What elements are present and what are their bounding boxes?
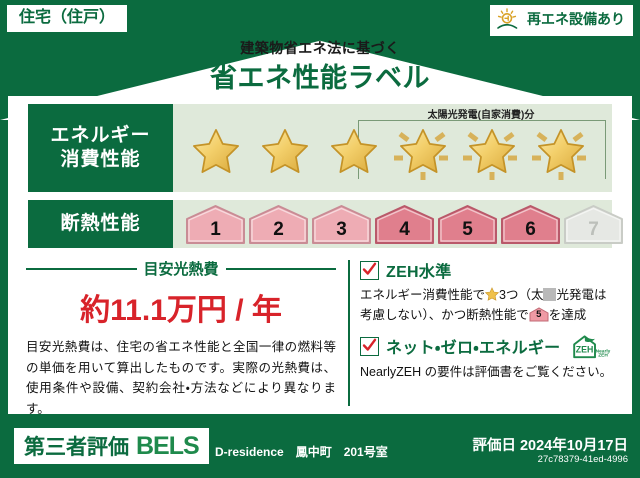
energy-performance-label: 住宅（住戸） 再エネ設備あり 建築物省エネ法に基づく 省エネ性能ラベル bbox=[0, 0, 640, 478]
insulation-level-value: 1 bbox=[210, 219, 221, 241]
zeh-standard-heading: ZEH水準 bbox=[360, 258, 618, 282]
zeh-desc-part4: を達成 bbox=[549, 308, 587, 322]
utility-cost-column: 目安光熱費 約11.1万円 / 年 目安光熱費は、住宅の省エネ性能と全国一律の燃… bbox=[26, 256, 336, 420]
bels-logo: 第三者評価 BELS bbox=[14, 428, 209, 464]
bels-logo-jp: 第三者評価 bbox=[24, 431, 129, 461]
utility-cost-heading-label: 目安光熱費 bbox=[144, 258, 219, 279]
insulation-level-badge: 2 bbox=[248, 204, 309, 245]
insulation-level-inline-badge: 5 bbox=[529, 307, 549, 322]
star-filled bbox=[183, 120, 249, 184]
star-icon bbox=[190, 126, 242, 176]
insulation-performance-panel: 1234567 bbox=[173, 200, 612, 248]
net-zero-energy-block: ネット・ゼロ・エネルギー ZEH Nearly ZEH NearlyZEH の要… bbox=[360, 333, 618, 382]
insulation-level-badge: 1 bbox=[185, 204, 246, 245]
redacted-character bbox=[543, 288, 556, 301]
energy-label-line2: 消費性能 bbox=[60, 148, 140, 172]
star-filled bbox=[252, 120, 318, 184]
insulation-level-inline-value: 5 bbox=[529, 307, 549, 322]
zeh-desc-part1: エネルギー消費性能で bbox=[360, 288, 485, 302]
check-icon bbox=[362, 338, 377, 353]
label-subtitle: 建築物省エネ法に基づく bbox=[0, 38, 640, 58]
star-filled bbox=[321, 120, 387, 184]
energy-label-line1: エネルギー bbox=[50, 124, 150, 148]
insulation-label: 断熱性能 bbox=[60, 212, 140, 236]
column-divider bbox=[348, 260, 350, 406]
renewable-equipment-tag-label: 再エネ設備あり bbox=[527, 12, 625, 27]
insulation-performance-label-box: 断熱性能 bbox=[28, 200, 173, 248]
star-solar bbox=[528, 120, 594, 184]
insulation-level-badge: 7 bbox=[563, 204, 624, 245]
net-zero-energy-checkbox[interactable] bbox=[360, 337, 379, 356]
star-icon bbox=[485, 287, 499, 301]
renewable-equipment-tag: 再エネ設備あり bbox=[489, 4, 634, 37]
zeh-standard-block: ZEH水準 エネルギー消費性能で3つ（太光発電は考慮しない）、かつ断熱性能で5を… bbox=[360, 258, 618, 325]
house-type-tag: 住宅（住戸） bbox=[6, 4, 128, 33]
sun-icon bbox=[496, 8, 522, 32]
insulation-level-value: 4 bbox=[399, 219, 410, 241]
evaluation-date: 評価日 2024年10月17日 bbox=[472, 434, 628, 455]
insulation-level-value: 6 bbox=[525, 219, 536, 241]
zeh-standard-checkbox[interactable] bbox=[360, 261, 379, 280]
details-columns: 目安光熱費 約11.1万円 / 年 目安光熱費は、住宅の省エネ性能と全国一律の燃… bbox=[8, 256, 632, 414]
star-solar bbox=[390, 120, 456, 184]
utility-cost-value: 約11.1万円 / 年 bbox=[26, 285, 336, 329]
solar-generation-note: 太陽光発電(自家消費)分 bbox=[356, 106, 606, 121]
insulation-performance-row: 断熱性能 1234567 bbox=[28, 200, 612, 248]
insulation-level-value: 3 bbox=[336, 219, 347, 241]
star-icon bbox=[328, 126, 380, 176]
star-icon bbox=[535, 126, 587, 176]
heading-rule-left bbox=[26, 268, 137, 270]
zeh-standard-title: ZEH水準 bbox=[386, 258, 452, 282]
insulation-level-value: 2 bbox=[273, 219, 284, 241]
net-zero-energy-title: ネット・ゼロ・エネルギー bbox=[386, 334, 560, 358]
insulation-level-value: 5 bbox=[462, 219, 473, 241]
energy-performance-stars-panel: 太陽光発電(自家消費)分 bbox=[173, 104, 612, 192]
evaluation-id: 27c78379-41ed-4996 bbox=[538, 454, 628, 465]
label-body-card: エネルギー 消費性能 太陽光発電(自家消費)分 断熱性能 1234567 bbox=[8, 96, 632, 414]
insulation-level-value: 7 bbox=[588, 219, 599, 241]
energy-performance-row: エネルギー 消費性能 太陽光発電(自家消費)分 bbox=[28, 104, 612, 192]
zeh-desc-part2: 3つ（太 bbox=[499, 288, 543, 302]
utility-cost-heading: 目安光熱費 bbox=[26, 258, 336, 279]
insulation-level-badge: 4 bbox=[374, 204, 435, 245]
star-icon bbox=[466, 126, 518, 176]
star-icon bbox=[259, 126, 311, 176]
footer-band: 第三者評価 BELS D-residence 鳳中町 201号室 評価日 202… bbox=[0, 420, 640, 478]
star-icon bbox=[397, 126, 449, 176]
utility-cost-note: 目安光熱費は、住宅の省エネ性能と全国一律の燃料等の単価を用いて算出したものです。… bbox=[26, 337, 336, 420]
zeh-standard-description: エネルギー消費性能で3つ（太光発電は考慮しない）、かつ断熱性能で5を達成 bbox=[360, 285, 618, 325]
insulation-level-badge: 3 bbox=[311, 204, 372, 245]
bels-logo-en: BELS bbox=[136, 432, 199, 461]
net-zero-energy-description: NearlyZEH の要件は評価書をご覧ください。 bbox=[360, 362, 618, 382]
star-solar bbox=[459, 120, 525, 184]
insulation-level-badge: 5 bbox=[437, 204, 498, 245]
zeh-column: ZEH水準 エネルギー消費性能で3つ（太光発電は考慮しない）、かつ断熱性能で5を… bbox=[360, 258, 618, 390]
svg-text:ZEH: ZEH bbox=[599, 352, 609, 358]
check-icon bbox=[362, 262, 377, 277]
insulation-level-scale: 1234567 bbox=[173, 204, 624, 245]
energy-performance-label-box: エネルギー 消費性能 bbox=[28, 104, 173, 192]
label-title: 省エネ性能ラベル bbox=[0, 56, 640, 95]
star-rating bbox=[173, 120, 594, 184]
svg-text:ZEH: ZEH bbox=[576, 344, 594, 354]
zeh-logo-icon: ZEH Nearly ZEH bbox=[571, 333, 611, 359]
net-zero-energy-heading: ネット・ゼロ・エネルギー ZEH Nearly ZEH bbox=[360, 333, 618, 359]
property-name: D-residence 鳳中町 201号室 bbox=[215, 443, 388, 460]
insulation-level-badge: 6 bbox=[500, 204, 561, 245]
heading-rule-right bbox=[226, 268, 337, 270]
